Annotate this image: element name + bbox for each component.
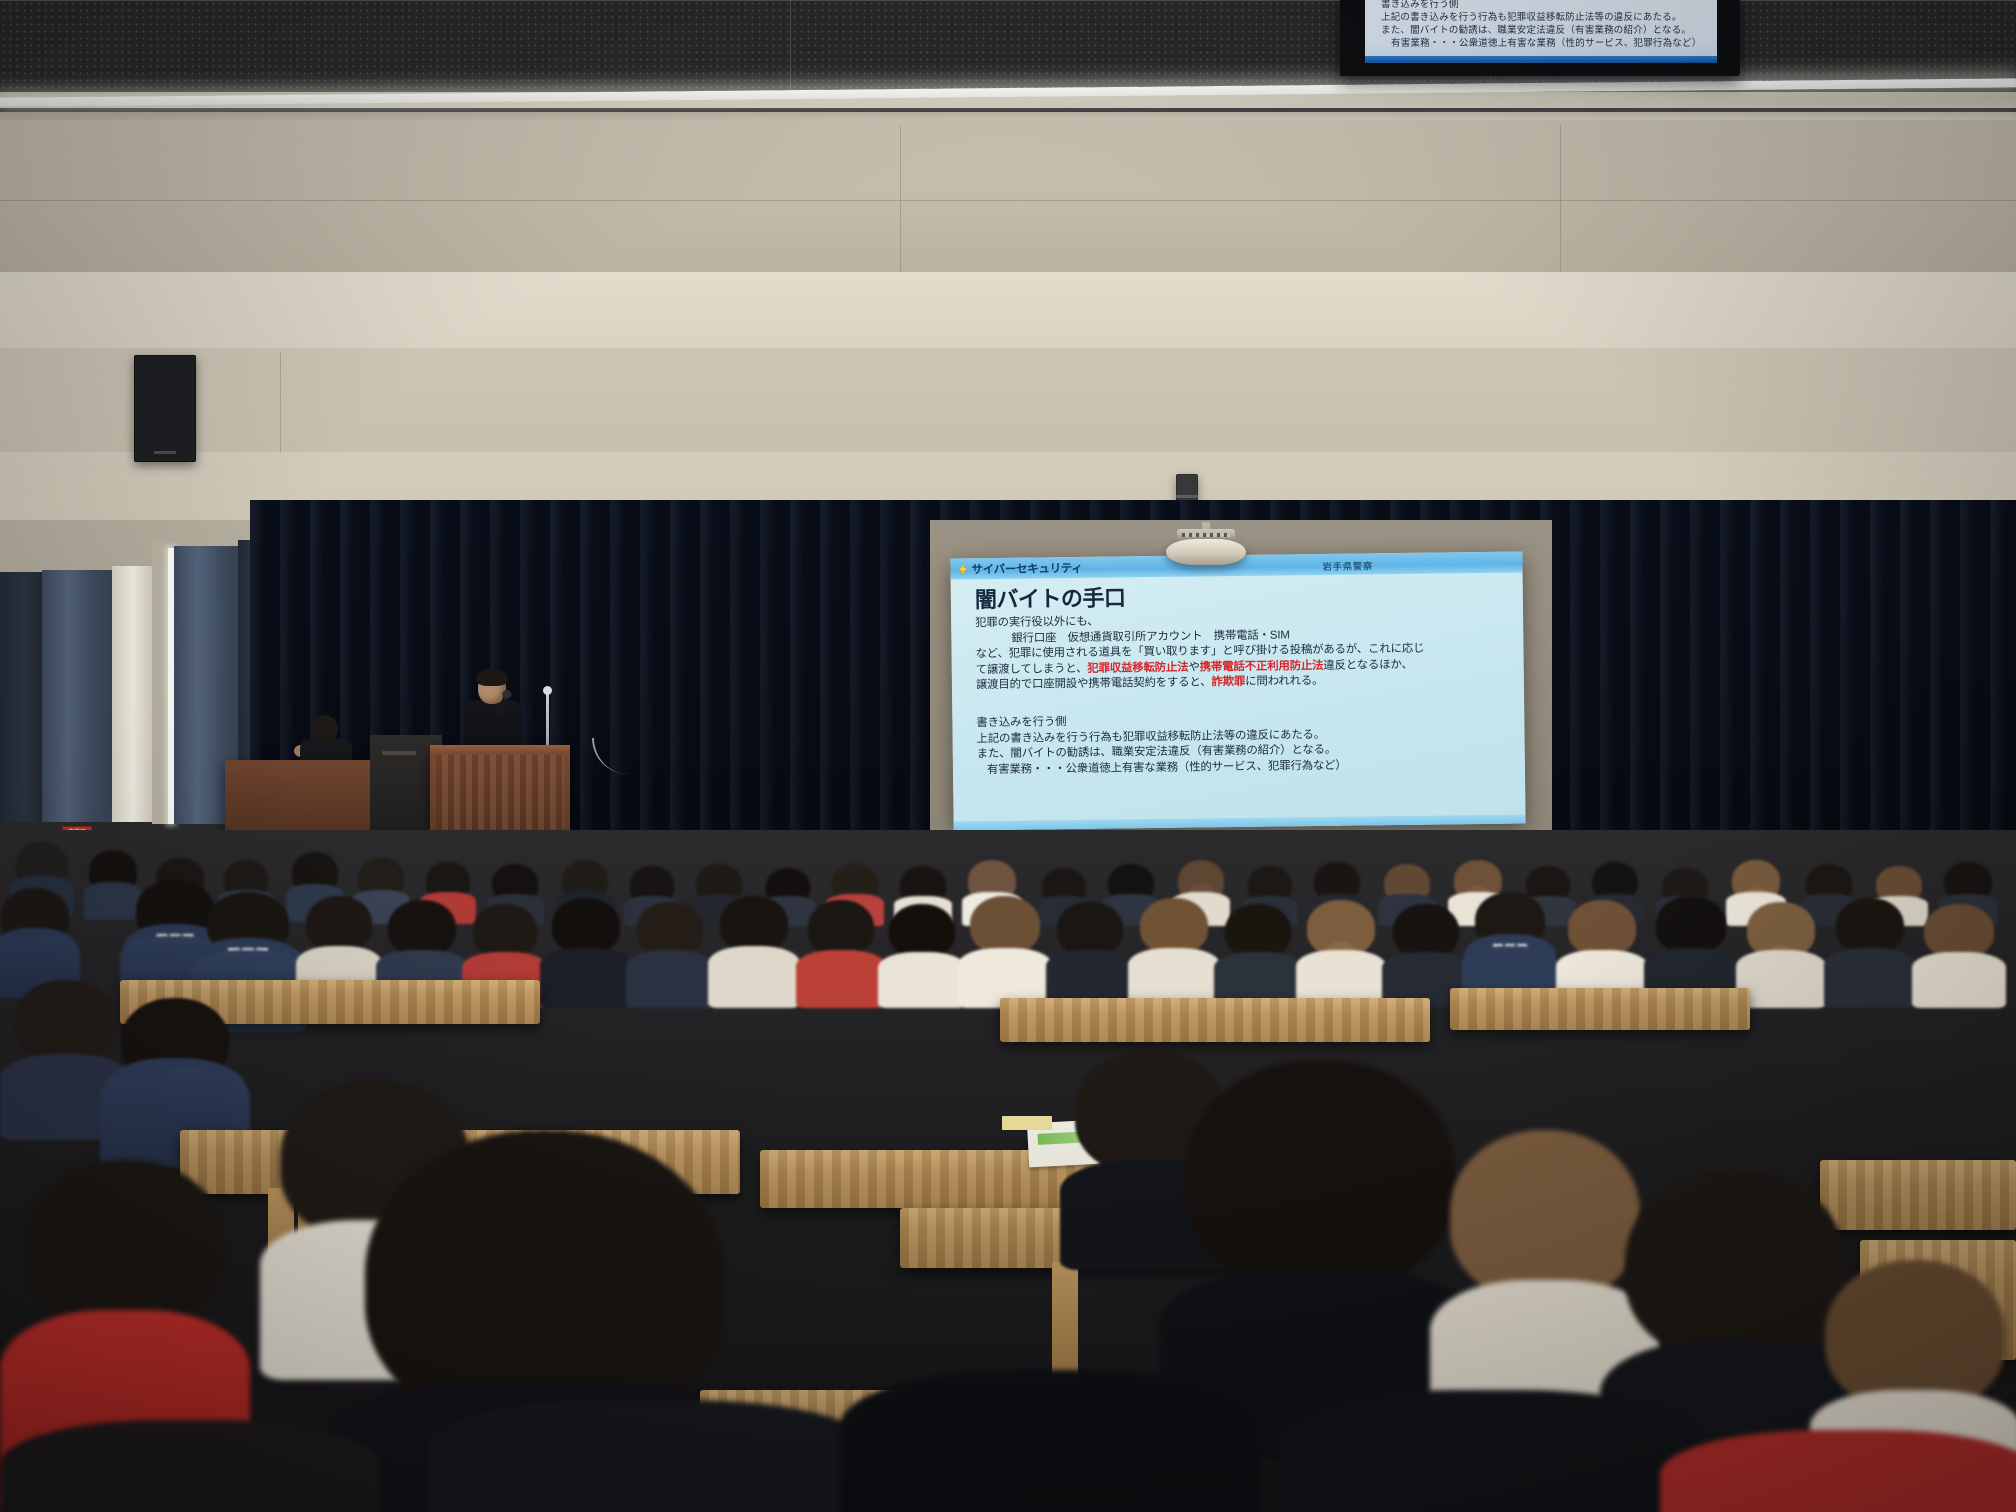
window-daylight-1 (112, 566, 154, 822)
bench-desk (1450, 988, 1750, 1030)
line4-seg-3: 違反となるほか、 (1323, 659, 1412, 672)
monitor-screen: 書き込みを行う側 上記の書き込みを行う行為も犯罪収益移転防止法等の違反にあたる。… (1365, 0, 1717, 56)
audience-person (1128, 898, 1220, 1008)
audience-person (1280, 1390, 1700, 1512)
law-highlight-3: 詐欺罪 (1211, 676, 1245, 688)
line4-seg-1: て譲渡してしまうと、 (976, 663, 1088, 676)
slide-header-right-text: 岩手県警察 (1322, 558, 1373, 573)
audience-person (840, 1370, 1260, 1512)
ceiling-acoustic-band (0, 272, 2016, 350)
slide-body: 犯罪の実行役以外にも、 銀行口座 仮想通貨取引所アカウント 携帯電話・SIM な… (975, 610, 1517, 779)
law-highlight-1: 犯罪収益移転防止法 (1087, 661, 1188, 674)
audience-person (1296, 900, 1386, 1008)
line5-seg-2: に問われれる。 (1245, 675, 1323, 688)
audience-person (0, 1420, 380, 1512)
audience-person (1214, 904, 1302, 1008)
monitor-line-3: また、闇バイトの勧誘は、職業安定法違反（有害業務の紹介）となる。 (1381, 24, 1711, 37)
law-highlight-2: 携帯電話不正利用防止法 (1200, 660, 1324, 674)
projection-screen: サイバーセキュリティ 岩手県警察 闇バイトの手口 犯罪の実行役以外にも、 銀行口… (950, 552, 1525, 831)
audience-person (958, 896, 1052, 1008)
monitor-line-4: 有害業務・・・公衆道徳上有害な業務（性的サービス、犯罪行為など） (1391, 37, 1711, 50)
cyber-security-bolt-logo-icon (956, 562, 970, 576)
projector-body (1166, 539, 1246, 565)
window-curtain-dark-1 (0, 572, 48, 822)
audience-person (430, 1400, 870, 1512)
audience-person (1912, 904, 2006, 1008)
monitor-footer-bar (1365, 56, 1717, 63)
line5-seg-1: 譲渡目的で口座開設や携帯電話契約をすると、 (976, 677, 1212, 692)
overhead-monitor: 書き込みを行う側 上記の書き込みを行う行為も犯罪収益移転防止法等の違反にあたる。… (1340, 0, 1740, 76)
ceiling-panel-low (0, 348, 2016, 458)
audience-person (878, 904, 966, 1008)
speaker-hair (476, 669, 508, 686)
monitor-bezel (1340, 0, 1366, 76)
sticky-note (1002, 1116, 1052, 1130)
line4-seg-2: や (1188, 661, 1199, 673)
ceiling-projector (1160, 528, 1252, 568)
auditorium-photo: 書き込みを行う側 上記の書き込みを行う行為も犯罪収益移転防止法等の違反にあたる。… (0, 0, 2016, 1512)
audience-person (796, 900, 886, 1008)
audience-person (1046, 902, 1134, 1008)
bench-desk (1000, 998, 1430, 1042)
audience-person (540, 898, 632, 1008)
audience-person (708, 896, 800, 1008)
slide-title: 闇バイトの手口 (975, 580, 1126, 614)
audience-person (1824, 898, 1916, 1008)
slide-header-left-text: サイバーセキュリティ (971, 560, 1082, 577)
wall-speaker (134, 355, 196, 462)
monitor-line-1: 書き込みを行う側 (1381, 0, 1711, 11)
ceiling-panel-mid (0, 120, 2016, 275)
audience-person (626, 902, 714, 1008)
monitor-line-2: 上記の書き込みを行う行為も犯罪収益移転防止法等の違反にあたる。 (1381, 11, 1711, 24)
audience-person (1660, 1430, 2016, 1512)
window-curtain-blue-1 (42, 570, 116, 822)
audience-area (0, 830, 2016, 1512)
